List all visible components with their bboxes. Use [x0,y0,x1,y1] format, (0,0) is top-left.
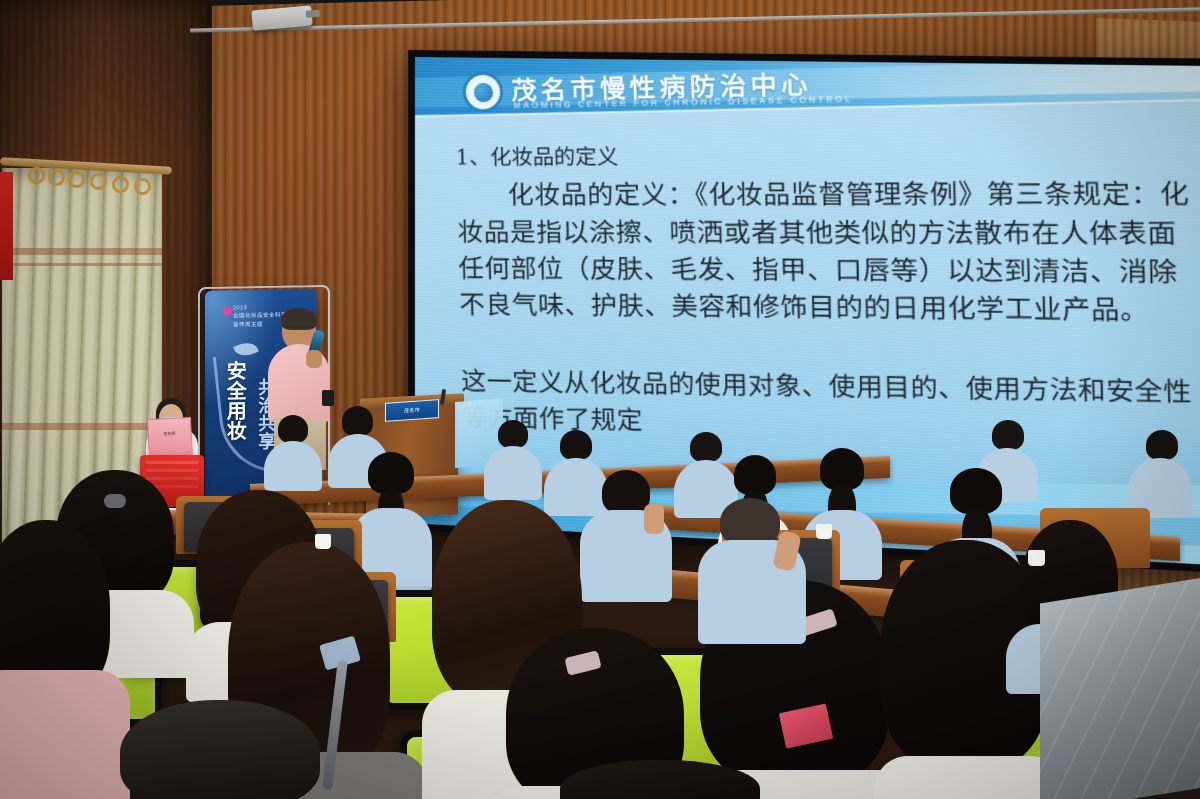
curtain-ring-icon [48,169,65,186]
audience-torso [484,446,542,500]
audience-hair [498,420,528,448]
red-flag-banner [0,172,13,280]
audience-hair [602,470,650,514]
floor-tiles [1040,577,1200,799]
emblem-inner-icon [473,82,493,102]
banner-accent-dot-icon [223,307,232,316]
audience-hair [342,406,373,436]
paper-cup [315,534,331,549]
audience-torso [0,670,130,799]
paper-cup [816,524,832,539]
audience-hair [720,498,780,546]
conference-photo-scene: 茂名市慢性病防治中心 MAOMING CENTER FOR CHRONIC DI… [0,0,1200,799]
presenter-glasses-icon [284,326,314,333]
audience-hair [690,432,722,462]
audience-torso [544,458,608,516]
banner-subtitle: 2023 全国化妆品安全科普 宣传周主题 [233,304,287,330]
presenter-hand [306,350,322,368]
audience-hair [992,420,1024,450]
curtain-ring-icon [28,167,45,184]
curtain-ring-icon [134,178,151,195]
curtain-ring-icon [90,173,107,190]
curtain-stripe [2,263,162,266]
curtain-stripe [2,248,162,255]
slide-content-body: 1、化妆品的定义 化妆品的定义：《化妆品监督管理条例》第三条规定：化妆品是指以涂… [455,140,1200,451]
lectern-name-plate: 茂名市 [385,399,439,422]
audience-hair [1146,430,1178,460]
curtain-ring-icon [68,171,85,188]
slide-paragraph-one: 化妆品的定义：《化妆品监督管理条例》第三条规定：化妆品是指以涂擦、喷洒或者其他类… [456,176,1200,331]
audience-torso [874,756,1064,799]
audience-hand [644,504,664,534]
audience-hair-short [120,700,320,799]
banner-slogan-primary: 安全用妆 [225,360,244,440]
audience-hair [278,415,308,443]
curtain-ring-icon [112,176,129,193]
audience-hair-clip-icon [104,494,126,508]
slide-heading: 1、化妆品的定义 [455,140,1200,172]
lectern-name-plate-text: 茂名市 [404,406,420,414]
registration-sign-text: 签到表 [149,430,191,438]
curtain-stripe [2,423,162,430]
presenter-phone-icon [322,390,334,406]
audience-hair [560,430,592,460]
audience-torso [264,441,322,491]
paper-cup [1028,550,1045,566]
